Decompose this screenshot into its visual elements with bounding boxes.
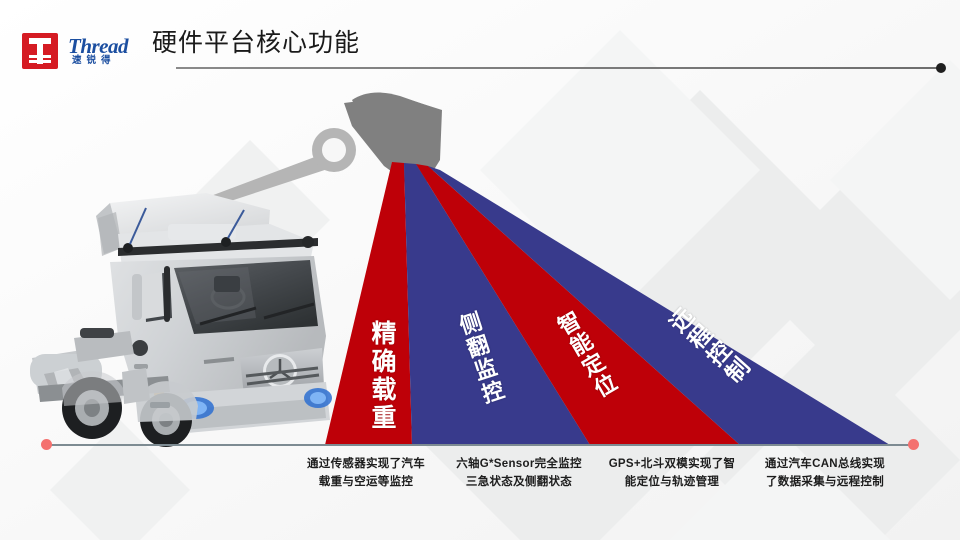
- beam-caption-4: 通过汽车CAN总线实现 了数据采集与远程控制: [740, 456, 910, 492]
- header-divider: [176, 67, 938, 69]
- header-divider-end-dot: [936, 63, 946, 73]
- thread-logo-icon: [22, 33, 58, 69]
- caption-line: 载重与空运等监控: [281, 474, 451, 492]
- beam-caption-2: 六轴G*Sensor完全监控 三急状态及侧翻状态: [434, 456, 604, 492]
- baseline-right-dot: [908, 439, 919, 450]
- baseline-rule: [46, 444, 918, 446]
- truck-illustration: [18, 176, 368, 448]
- brand-wordmark: Thread: [68, 36, 128, 57]
- slide-header: Thread 速锐得 硬件平台核心功能: [0, 0, 960, 88]
- beam-caption-3: GPS+北斗双模实现了智 能定位与轨迹管理: [587, 456, 757, 492]
- page-title: 硬件平台核心功能: [152, 28, 360, 58]
- beam-caption-1: 通过传感器实现了汽车 载重与空运等监控: [281, 456, 451, 492]
- caption-line: 六轴G*Sensor完全监控: [434, 456, 604, 474]
- caption-line: 了数据采集与远程控制: [740, 474, 910, 492]
- caption-line: GPS+北斗双模实现了智: [587, 456, 757, 474]
- baseline-left-dot: [41, 439, 52, 450]
- caption-line: 能定位与轨迹管理: [587, 474, 757, 492]
- caption-line: 三急状态及侧翻状态: [434, 474, 604, 492]
- caption-line: 通过传感器实现了汽车: [281, 456, 451, 474]
- caption-line: 通过汽车CAN总线实现: [740, 456, 910, 474]
- brand-wordmark-cn: 速锐得: [72, 56, 116, 66]
